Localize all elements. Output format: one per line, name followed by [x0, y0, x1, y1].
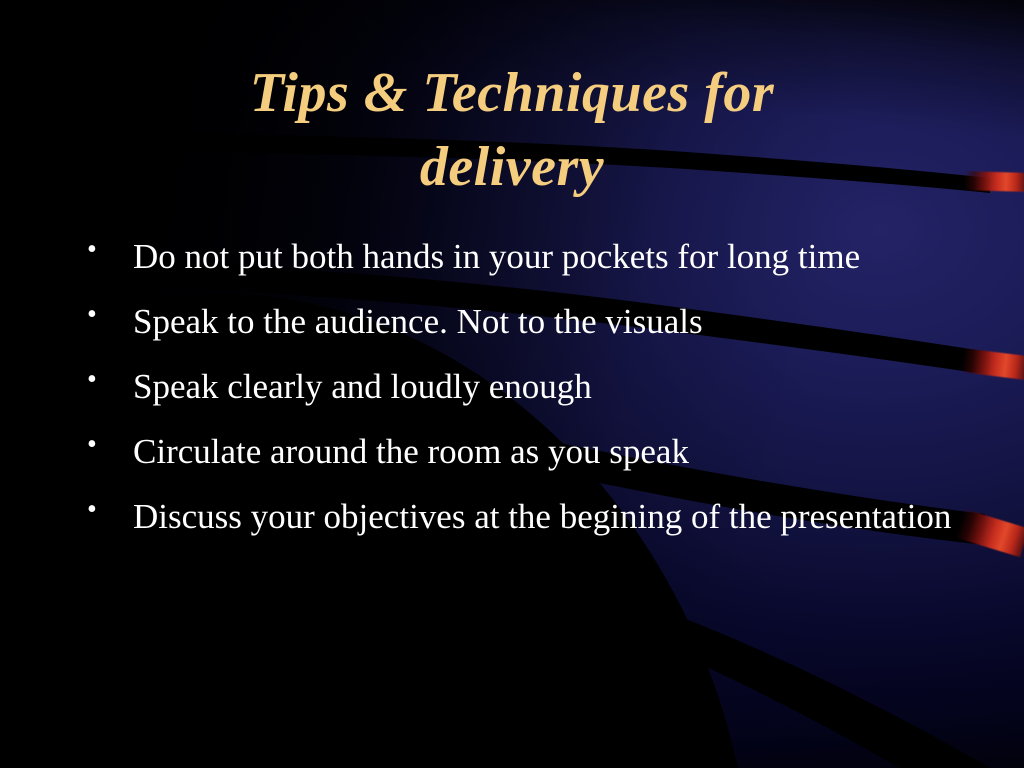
presentation-slide: Tips & Techniques for delivery • Do not …	[0, 0, 1024, 768]
swoosh-tip-2	[961, 348, 1024, 380]
swoosh-tip-3	[955, 509, 1024, 558]
bullet-point-icon: •	[78, 289, 133, 341]
bullet-point-icon: •	[78, 419, 133, 471]
bullet-text: Speak to the audience. Not to the visual…	[133, 289, 958, 354]
list-item: • Circulate around the room as you speak	[78, 419, 958, 484]
slide-title: Tips & Techniques for delivery	[96, 56, 928, 205]
bullet-text: Circulate around the room as you speak	[133, 419, 958, 484]
bullet-point-icon: •	[78, 354, 133, 406]
bullet-list: • Do not put both hands in your pockets …	[78, 224, 958, 549]
list-item: • Do not put both hands in your pockets …	[78, 224, 958, 289]
bullet-point-icon: •	[78, 224, 133, 276]
bullet-text: Do not put both hands in your pockets fo…	[133, 224, 958, 289]
swoosh-tip-1	[964, 171, 1024, 192]
bullet-point-icon: •	[78, 484, 133, 536]
bullet-text: Discuss your objectives at the begining …	[133, 484, 958, 549]
list-item: • Discuss your objectives at the beginin…	[78, 484, 958, 549]
bullet-text: Speak clearly and loudly enough	[133, 354, 958, 419]
list-item: • Speak to the audience. Not to the visu…	[78, 289, 958, 354]
list-item: • Speak clearly and loudly enough	[78, 354, 958, 419]
